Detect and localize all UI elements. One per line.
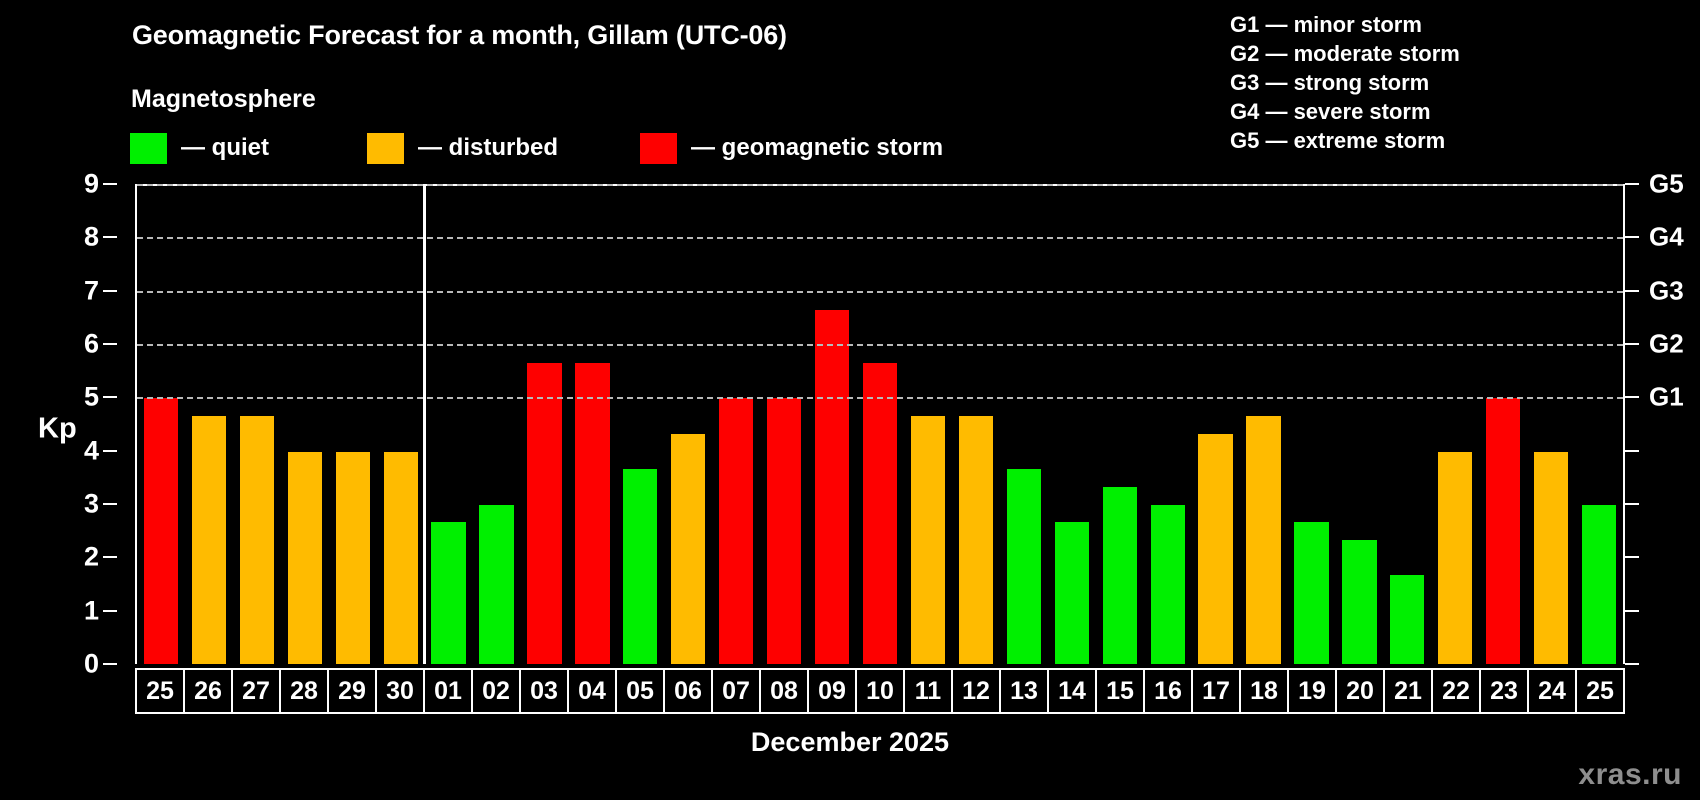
bar-slot <box>1575 186 1623 664</box>
bar-slot <box>329 186 377 664</box>
bar-slot <box>1000 186 1048 664</box>
legend-item-disturbed: — disturbed <box>367 133 558 164</box>
bar-day-27[interactable] <box>237 416 277 664</box>
day-label-7: 02 <box>473 670 521 712</box>
forecast-divider <box>423 184 426 664</box>
bar-slot <box>1048 186 1096 664</box>
bar-day-28[interactable] <box>285 452 325 664</box>
bar-day-25[interactable] <box>141 398 181 664</box>
bar-day-09[interactable] <box>812 310 852 664</box>
right-tick-label-G1: G1 <box>1649 382 1684 413</box>
bar-day-02[interactable] <box>476 505 516 664</box>
bar-slot <box>233 186 281 664</box>
bar-day-04[interactable] <box>572 363 612 664</box>
day-label-20: 15 <box>1097 670 1145 712</box>
day-label-13: 08 <box>761 670 809 712</box>
bar-slot <box>521 186 569 664</box>
bar-slot <box>1431 186 1479 664</box>
plot-area <box>135 184 1625 664</box>
y-tick-mark-5 <box>103 396 117 398</box>
geomagnetic-forecast-chart: Geomagnetic Forecast for a month, Gillam… <box>0 0 1700 800</box>
bar-slot <box>473 186 521 664</box>
bar-day-07[interactable] <box>716 398 756 664</box>
right-minor-tick-3 <box>1625 503 1639 505</box>
bar-slot <box>185 186 233 664</box>
day-label-24: 19 <box>1289 670 1337 712</box>
chart-subtitle: Magnetosphere <box>131 85 316 114</box>
color-legend: — quiet— disturbed— geomagnetic storm <box>130 131 943 165</box>
bar-day-03[interactable] <box>524 363 564 664</box>
day-label-11: 06 <box>665 670 713 712</box>
right-tick-mark-G1 <box>1625 396 1639 398</box>
y-tick-label-8: 8 <box>84 222 99 253</box>
bar-slot <box>1288 186 1336 664</box>
gscale-row-g4: G4 — severe storm <box>1230 97 1460 126</box>
day-label-0: 25 <box>137 670 185 712</box>
y-tick-mark-0 <box>103 663 117 665</box>
y-tick-mark-4 <box>103 450 117 452</box>
right-axis-g-scale: G1G2G3G4G5 <box>1625 0 1700 800</box>
legend-swatch-storm-icon <box>640 133 677 164</box>
x-axis-day-labels: 2526272829300102030405060708091011121314… <box>135 668 1625 714</box>
gscale-row-g2: G2 — moderate storm <box>1230 39 1460 68</box>
day-label-27: 22 <box>1433 670 1481 712</box>
bar-day-18[interactable] <box>1243 416 1283 664</box>
day-label-8: 03 <box>521 670 569 712</box>
right-tick-mark-G3 <box>1625 290 1639 292</box>
day-label-26: 21 <box>1385 670 1433 712</box>
day-label-18: 13 <box>1001 670 1049 712</box>
y-tick-label-1: 1 <box>84 595 99 626</box>
bars-container <box>137 186 1623 664</box>
y-tick-label-2: 2 <box>84 542 99 573</box>
bar-slot <box>1144 186 1192 664</box>
bar-slot <box>1192 186 1240 664</box>
bar-slot <box>952 186 1000 664</box>
day-label-29: 24 <box>1529 670 1577 712</box>
y-tick-label-5: 5 <box>84 382 99 413</box>
bar-day-23[interactable] <box>1483 398 1523 664</box>
y-tick-label-6: 6 <box>84 329 99 360</box>
right-tick-mark-G5 <box>1625 183 1639 185</box>
bar-day-13[interactable] <box>1004 469 1044 664</box>
bar-day-24[interactable] <box>1531 452 1571 664</box>
y-tick-label-3: 3 <box>84 489 99 520</box>
legend-item-storm: — geomagnetic storm <box>640 133 943 164</box>
day-label-12: 07 <box>713 670 761 712</box>
g-scale-legend: G1 — minor stormG2 — moderate stormG3 — … <box>1230 10 1460 155</box>
bar-slot <box>664 186 712 664</box>
x-axis-title: December 2025 <box>0 727 1700 758</box>
bar-day-26[interactable] <box>189 416 229 664</box>
y-axis-title: Kp <box>38 413 77 446</box>
y-tick-mark-1 <box>103 610 117 612</box>
y-tick-mark-9 <box>103 183 117 185</box>
bar-day-17[interactable] <box>1195 434 1235 664</box>
bar-slot <box>1527 186 1575 664</box>
day-label-17: 12 <box>953 670 1001 712</box>
y-axis: 0123456789Kp <box>0 0 135 800</box>
day-label-23: 18 <box>1241 670 1289 712</box>
bar-slot <box>1335 186 1383 664</box>
bar-day-30[interactable] <box>381 452 421 664</box>
day-label-6: 01 <box>425 670 473 712</box>
bar-day-25[interactable] <box>1579 505 1619 664</box>
legend-label-disturbed: — disturbed <box>418 134 558 162</box>
day-label-25: 20 <box>1337 670 1385 712</box>
y-tick-label-9: 9 <box>84 169 99 200</box>
bar-day-06[interactable] <box>668 434 708 664</box>
right-tick-label-G4: G4 <box>1649 222 1684 253</box>
bar-day-29[interactable] <box>333 452 373 664</box>
bar-day-08[interactable] <box>764 398 804 664</box>
bar-day-10[interactable] <box>860 363 900 664</box>
right-minor-tick-2 <box>1625 556 1639 558</box>
legend-item-quiet: — quiet <box>130 133 269 164</box>
day-label-9: 04 <box>569 670 617 712</box>
gscale-row-g5: G5 — extreme storm <box>1230 126 1460 155</box>
day-label-16: 11 <box>905 670 953 712</box>
bar-day-16[interactable] <box>1148 505 1188 664</box>
bar-day-22[interactable] <box>1435 452 1475 664</box>
bar-slot <box>137 186 185 664</box>
bar-day-21[interactable] <box>1387 575 1427 664</box>
right-tick-label-G5: G5 <box>1649 169 1684 200</box>
legend-swatch-disturbed-icon <box>367 133 404 164</box>
legend-label-quiet: — quiet <box>181 134 269 162</box>
day-label-19: 14 <box>1049 670 1097 712</box>
bar-slot <box>1240 186 1288 664</box>
gscale-row-g3: G3 — strong storm <box>1230 68 1460 97</box>
bar-slot <box>1383 186 1431 664</box>
day-label-3: 28 <box>281 670 329 712</box>
bar-day-11[interactable] <box>908 416 948 664</box>
bar-slot <box>1479 186 1527 664</box>
bar-slot <box>616 186 664 664</box>
bar-day-20[interactable] <box>1339 540 1379 664</box>
y-tick-label-4: 4 <box>84 435 99 466</box>
right-tick-label-G3: G3 <box>1649 275 1684 306</box>
right-tick-mark-G4 <box>1625 236 1639 238</box>
y-tick-mark-6 <box>103 343 117 345</box>
y-tick-label-7: 7 <box>84 275 99 306</box>
y-tick-mark-3 <box>103 503 117 505</box>
day-label-14: 09 <box>809 670 857 712</box>
bar-slot <box>425 186 473 664</box>
right-minor-tick-4 <box>1625 450 1639 452</box>
page-title: Geomagnetic Forecast for a month, Gillam… <box>132 20 787 51</box>
bar-day-19[interactable] <box>1291 522 1331 664</box>
bar-day-05[interactable] <box>620 469 660 664</box>
day-label-5: 30 <box>377 670 425 712</box>
bar-slot <box>377 186 425 664</box>
bar-day-15[interactable] <box>1100 487 1140 664</box>
right-tick-label-G2: G2 <box>1649 329 1684 360</box>
day-label-22: 17 <box>1193 670 1241 712</box>
day-label-10: 05 <box>617 670 665 712</box>
bar-slot <box>904 186 952 664</box>
bar-day-12[interactable] <box>956 416 996 664</box>
bar-slot <box>712 186 760 664</box>
bar-slot <box>568 186 616 664</box>
y-tick-label-0: 0 <box>84 649 99 680</box>
y-tick-mark-8 <box>103 236 117 238</box>
day-label-2: 27 <box>233 670 281 712</box>
y-tick-mark-7 <box>103 290 117 292</box>
day-label-30: 25 <box>1577 670 1623 712</box>
right-minor-tick-1 <box>1625 610 1639 612</box>
gscale-row-g1: G1 — minor storm <box>1230 10 1460 39</box>
legend-label-storm: — geomagnetic storm <box>691 134 943 162</box>
bar-slot <box>1096 186 1144 664</box>
bar-day-01[interactable] <box>428 522 468 664</box>
bar-slot <box>856 186 904 664</box>
right-minor-tick-0 <box>1625 663 1639 665</box>
right-tick-mark-G2 <box>1625 343 1639 345</box>
y-tick-mark-2 <box>103 556 117 558</box>
bar-slot <box>808 186 856 664</box>
day-label-28: 23 <box>1481 670 1529 712</box>
legend-swatch-quiet-icon <box>130 133 167 164</box>
bar-day-14[interactable] <box>1052 522 1092 664</box>
day-label-15: 10 <box>857 670 905 712</box>
bar-slot <box>281 186 329 664</box>
bar-slot <box>760 186 808 664</box>
watermark: xras.ru <box>1578 758 1682 792</box>
day-label-4: 29 <box>329 670 377 712</box>
day-label-21: 16 <box>1145 670 1193 712</box>
day-label-1: 26 <box>185 670 233 712</box>
